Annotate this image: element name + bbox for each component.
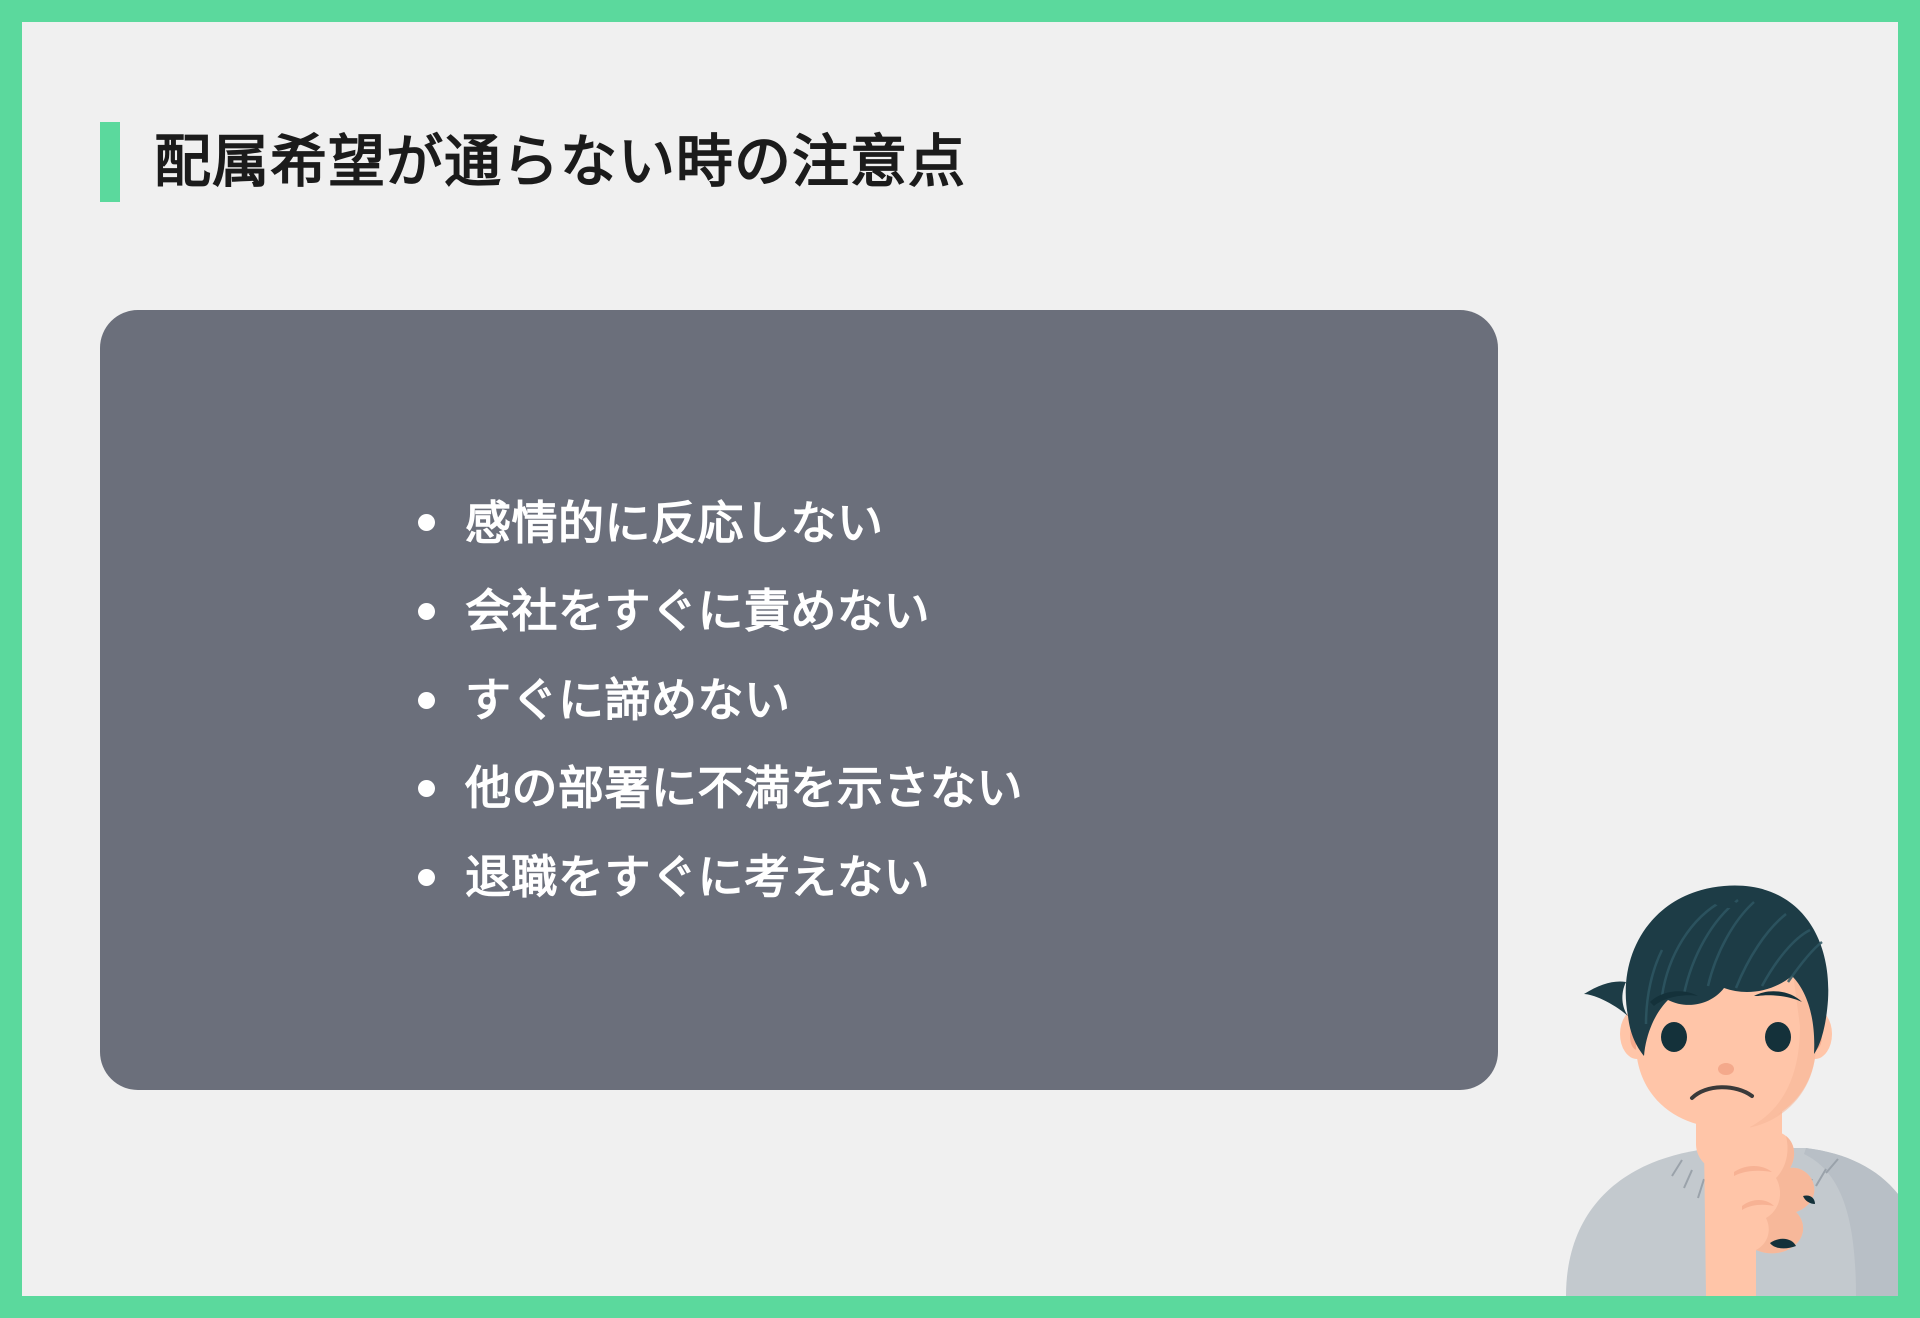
list-item-label: すぐに諦めない xyxy=(465,675,791,726)
list-item-label: 他の部署に不満を示さない xyxy=(465,763,1023,814)
list-item-label: 会社をすぐに責めない xyxy=(465,586,930,637)
slide-content-area: 配属希望が通らない時の注意点 感情的に反応しない 会社をすぐに責めない すぐに諦… xyxy=(22,22,1898,1296)
list-item: 会社をすぐに責めない xyxy=(418,586,1498,637)
bullet-dot-icon xyxy=(418,514,435,531)
notes-card: 感情的に反応しない 会社をすぐに責めない すぐに諦めない 他の部署に不満を示さな… xyxy=(100,310,1498,1090)
bullet-dot-icon xyxy=(418,869,435,886)
list-item: 退職をすぐに考えない xyxy=(418,852,1498,903)
title-accent-bar xyxy=(100,122,120,202)
list-item-label: 感情的に反応しない xyxy=(465,498,884,549)
list-item: 感情的に反応しない xyxy=(418,498,1498,549)
list-item: 他の部署に不満を示さない xyxy=(418,763,1498,814)
page-title: 配属希望が通らない時の注意点 xyxy=(154,134,966,191)
bullet-list: 感情的に反応しない 会社をすぐに責めない すぐに諦めない 他の部署に不満を示さな… xyxy=(100,310,1498,1090)
thinking-man-illustration xyxy=(1556,876,1898,1296)
list-item: すぐに諦めない xyxy=(418,675,1498,726)
bullet-dot-icon xyxy=(418,780,435,797)
slide-root: 配属希望が通らない時の注意点 感情的に反応しない 会社をすぐに責めない すぐに諦… xyxy=(0,0,1920,1318)
page-title-row: 配属希望が通らない時の注意点 xyxy=(100,120,966,204)
list-item-label: 退職をすぐに考えない xyxy=(465,852,930,903)
nose-shape xyxy=(1718,1063,1734,1075)
bullet-dot-icon xyxy=(418,692,435,709)
bullet-dot-icon xyxy=(418,603,435,620)
